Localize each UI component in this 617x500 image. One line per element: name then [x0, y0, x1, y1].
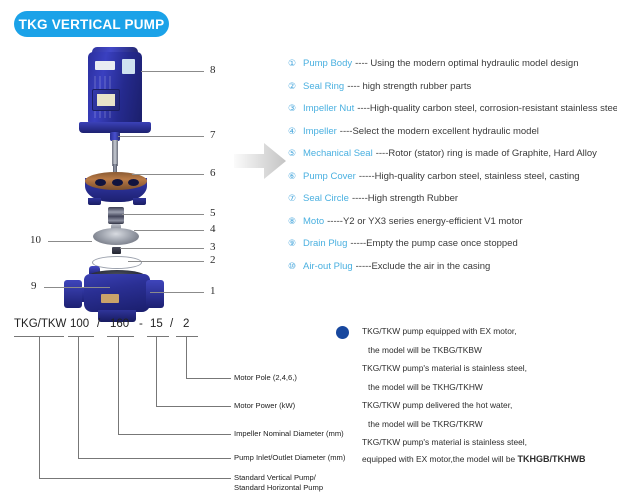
model-token-pole: 2	[183, 318, 189, 330]
callout-8: 8	[210, 64, 216, 76]
pump-inlet-flange	[64, 280, 82, 308]
note-last-model: TKHGB/TKHWB	[518, 454, 586, 464]
legend-item: ④ Impeller ----Select the modern excelle…	[288, 126, 617, 149]
model-lead-v-impeller	[118, 336, 119, 434]
legend-item: ⑧ Moto -----Y2 or YX3 series energy-effi…	[288, 216, 617, 239]
legend-number-icon: ①	[288, 59, 303, 69]
model-lead-v-inlet	[78, 336, 79, 458]
legend-part-name: Moto	[303, 216, 324, 227]
note-line: TKG/TKW pump delivered the hot water,	[336, 396, 617, 415]
leader-line-10	[48, 241, 92, 242]
model-lead-h-power	[156, 406, 231, 407]
model-lead-v-pole	[186, 336, 187, 378]
leader-line-2	[128, 261, 204, 262]
header-banner: TKG VERTICAL PUMP	[14, 11, 169, 37]
legend-part-name: Seal Ring	[303, 81, 344, 92]
leader-line-6	[132, 174, 204, 175]
leader-line-5	[122, 214, 204, 215]
model-underline-power	[147, 336, 169, 337]
leader-line-8	[141, 71, 204, 72]
callout-9: 9	[31, 280, 37, 292]
pump-body-casing	[84, 274, 150, 312]
note-line: the model will be TKRG/TKRW	[336, 415, 617, 434]
callout-6: 6	[210, 167, 216, 179]
legend-part-desc: ----High-quality carbon steel, corrosion…	[357, 103, 617, 114]
legend-item: ⑨ Drain Plug -----Empty the pump case on…	[288, 238, 617, 261]
model-variants-notes: TKG/TKW pump equipped with EX motor, the…	[336, 322, 617, 466]
parts-legend-list: ① Pump Body ---- Using the modern optima…	[288, 58, 617, 283]
legend-part-name: Impeller Nut	[303, 103, 354, 114]
legend-part-desc: -----High-quality carbon steel, stainles…	[359, 171, 580, 182]
motor-terminal-box	[92, 89, 120, 111]
legend-part-desc: ----Rotor (stator) ring is made of Graph…	[376, 148, 597, 159]
note-line: the model will be TKHG/TKHW	[336, 378, 617, 397]
note-line: TKG/TKW pump equipped with EX motor,	[336, 322, 617, 341]
pump-cover-foot	[88, 198, 101, 205]
legend-item: ⑥ Pump Cover -----High-quality carbon st…	[288, 171, 617, 194]
legend-part-desc: -----Y2 or YX3 series energy-efficient V…	[327, 216, 523, 227]
callout-10: 10	[30, 234, 41, 246]
model-label-pole: Motor Pole (2,4,6,)	[234, 373, 297, 383]
model-token-inlet: 100	[70, 318, 89, 330]
pump-cover-foot	[133, 198, 146, 205]
legend-part-desc: ----Select the modern excellent hydrauli…	[340, 126, 539, 137]
note-last-prefix: equipped with EX motor,the model will be	[362, 454, 518, 464]
legend-number-icon: ⑦	[288, 194, 303, 204]
pump-exploded-diagram: 8 7 6 5 4 3 2 1 10 9	[0, 42, 240, 307]
legend-number-icon: ⑩	[288, 262, 303, 272]
model-lead-v-series	[39, 336, 40, 478]
model-label-series-1: Standard Vertical Pump/	[234, 473, 316, 483]
legend-part-name: Pump Body	[303, 58, 352, 69]
legend-part-name: Mechanical Seal	[303, 148, 373, 159]
callout-7: 7	[210, 129, 216, 141]
callout-5: 5	[210, 207, 216, 219]
legend-number-icon: ④	[288, 127, 303, 137]
legend-number-icon: ⑥	[288, 172, 303, 182]
motor-label-sticker	[122, 59, 135, 74]
model-underline-pole	[176, 336, 198, 337]
leader-line-4	[134, 230, 204, 231]
note-line: the model will be TKBG/TKBW	[336, 341, 617, 360]
model-token-impeller: 160	[110, 318, 129, 330]
pump-cover-port	[95, 179, 106, 186]
motor-nameplate	[95, 61, 115, 70]
legend-part-name: Pump Cover	[303, 171, 356, 182]
model-lead-v-power	[156, 336, 157, 406]
legend-number-icon: ②	[288, 82, 303, 92]
legend-part-name: Impeller	[303, 126, 337, 137]
legend-item: ⑦ Seal Circle -----High strength Rubber	[288, 193, 617, 216]
pump-cover-port	[128, 179, 139, 186]
pump-outlet-flange	[146, 280, 164, 308]
legend-part-name: Seal Circle	[303, 193, 349, 204]
note-line: TKG/TKW pump's material is stainless ste…	[336, 433, 617, 452]
legend-part-desc: -----Empty the pump case once stopped	[350, 238, 517, 249]
legend-number-icon: ⑨	[288, 239, 303, 249]
model-lead-h-pole	[186, 378, 231, 379]
model-lead-h-impeller	[118, 434, 231, 435]
pump-body-nameplate	[101, 294, 119, 303]
callout-1: 1	[210, 285, 216, 297]
model-token-power: 15	[150, 318, 163, 330]
impeller-part	[93, 228, 139, 245]
model-token-series: TKG/TKW	[14, 318, 66, 330]
model-token-slash-2: /	[170, 318, 173, 330]
legend-item: ① Pump Body ---- Using the modern optima…	[288, 58, 617, 81]
arrow-right-icon	[232, 140, 288, 182]
model-code-breakdown: TKG/TKW 100 / 160 - 15 / 2 Motor Pole (2…	[0, 310, 330, 500]
leader-line-1	[150, 292, 204, 293]
model-lead-h-inlet	[78, 458, 231, 459]
mechanical-seal-part	[108, 207, 124, 224]
model-underline-inlet	[68, 336, 94, 337]
model-token-dash: -	[139, 318, 143, 330]
bullet-dot-icon	[336, 326, 349, 339]
leader-line-3	[120, 248, 204, 249]
shaft-tip	[113, 164, 117, 172]
legend-item: ③ Impeller Nut ----High-quality carbon s…	[288, 103, 617, 126]
model-token-slash-1: /	[97, 318, 100, 330]
legend-number-icon: ⑤	[288, 149, 303, 159]
model-label-impeller: Impeller Nominal Diameter (mm)	[234, 429, 344, 439]
legend-part-desc: -----Exclude the air in the casing	[356, 261, 491, 272]
legend-item: ⑩ Air-out Plug -----Exclude the air in t…	[288, 261, 617, 284]
leader-line-7	[118, 136, 204, 137]
model-label-power: Motor Power (kW)	[234, 401, 295, 411]
page-title: TKG VERTICAL PUMP	[19, 17, 165, 32]
callout-3: 3	[210, 241, 216, 253]
note-line-last: equipped with EX motor,the model will be…	[336, 452, 617, 466]
motor-shaft	[112, 140, 118, 166]
callout-2: 2	[210, 254, 216, 266]
leader-line-9	[44, 287, 110, 288]
legend-item: ⑤ Mechanical Seal ----Rotor (stator) rin…	[288, 148, 617, 171]
legend-number-icon: ⑧	[288, 217, 303, 227]
legend-item: ② Seal Ring ---- high strength rubber pa…	[288, 81, 617, 104]
model-label-inlet: Pump Inlet/Outlet Diameter (mm)	[234, 453, 345, 463]
legend-number-icon: ③	[288, 104, 303, 114]
callout-4: 4	[210, 223, 216, 235]
legend-part-name: Drain Plug	[303, 238, 347, 249]
model-label-series-2: Standard Horizontal Pump	[234, 483, 323, 493]
legend-part-desc: ---- Using the modern optimal hydraulic …	[355, 58, 578, 69]
note-line: TKG/TKW pump's material is stainless ste…	[336, 359, 617, 378]
legend-part-desc: -----High strength Rubber	[352, 193, 458, 204]
model-underline-impeller	[107, 336, 134, 337]
legend-part-desc: ---- high strength rubber parts	[347, 81, 471, 92]
pump-cover-port	[112, 179, 123, 186]
legend-part-name: Air-out Plug	[303, 261, 353, 272]
model-lead-h-series	[39, 478, 231, 479]
